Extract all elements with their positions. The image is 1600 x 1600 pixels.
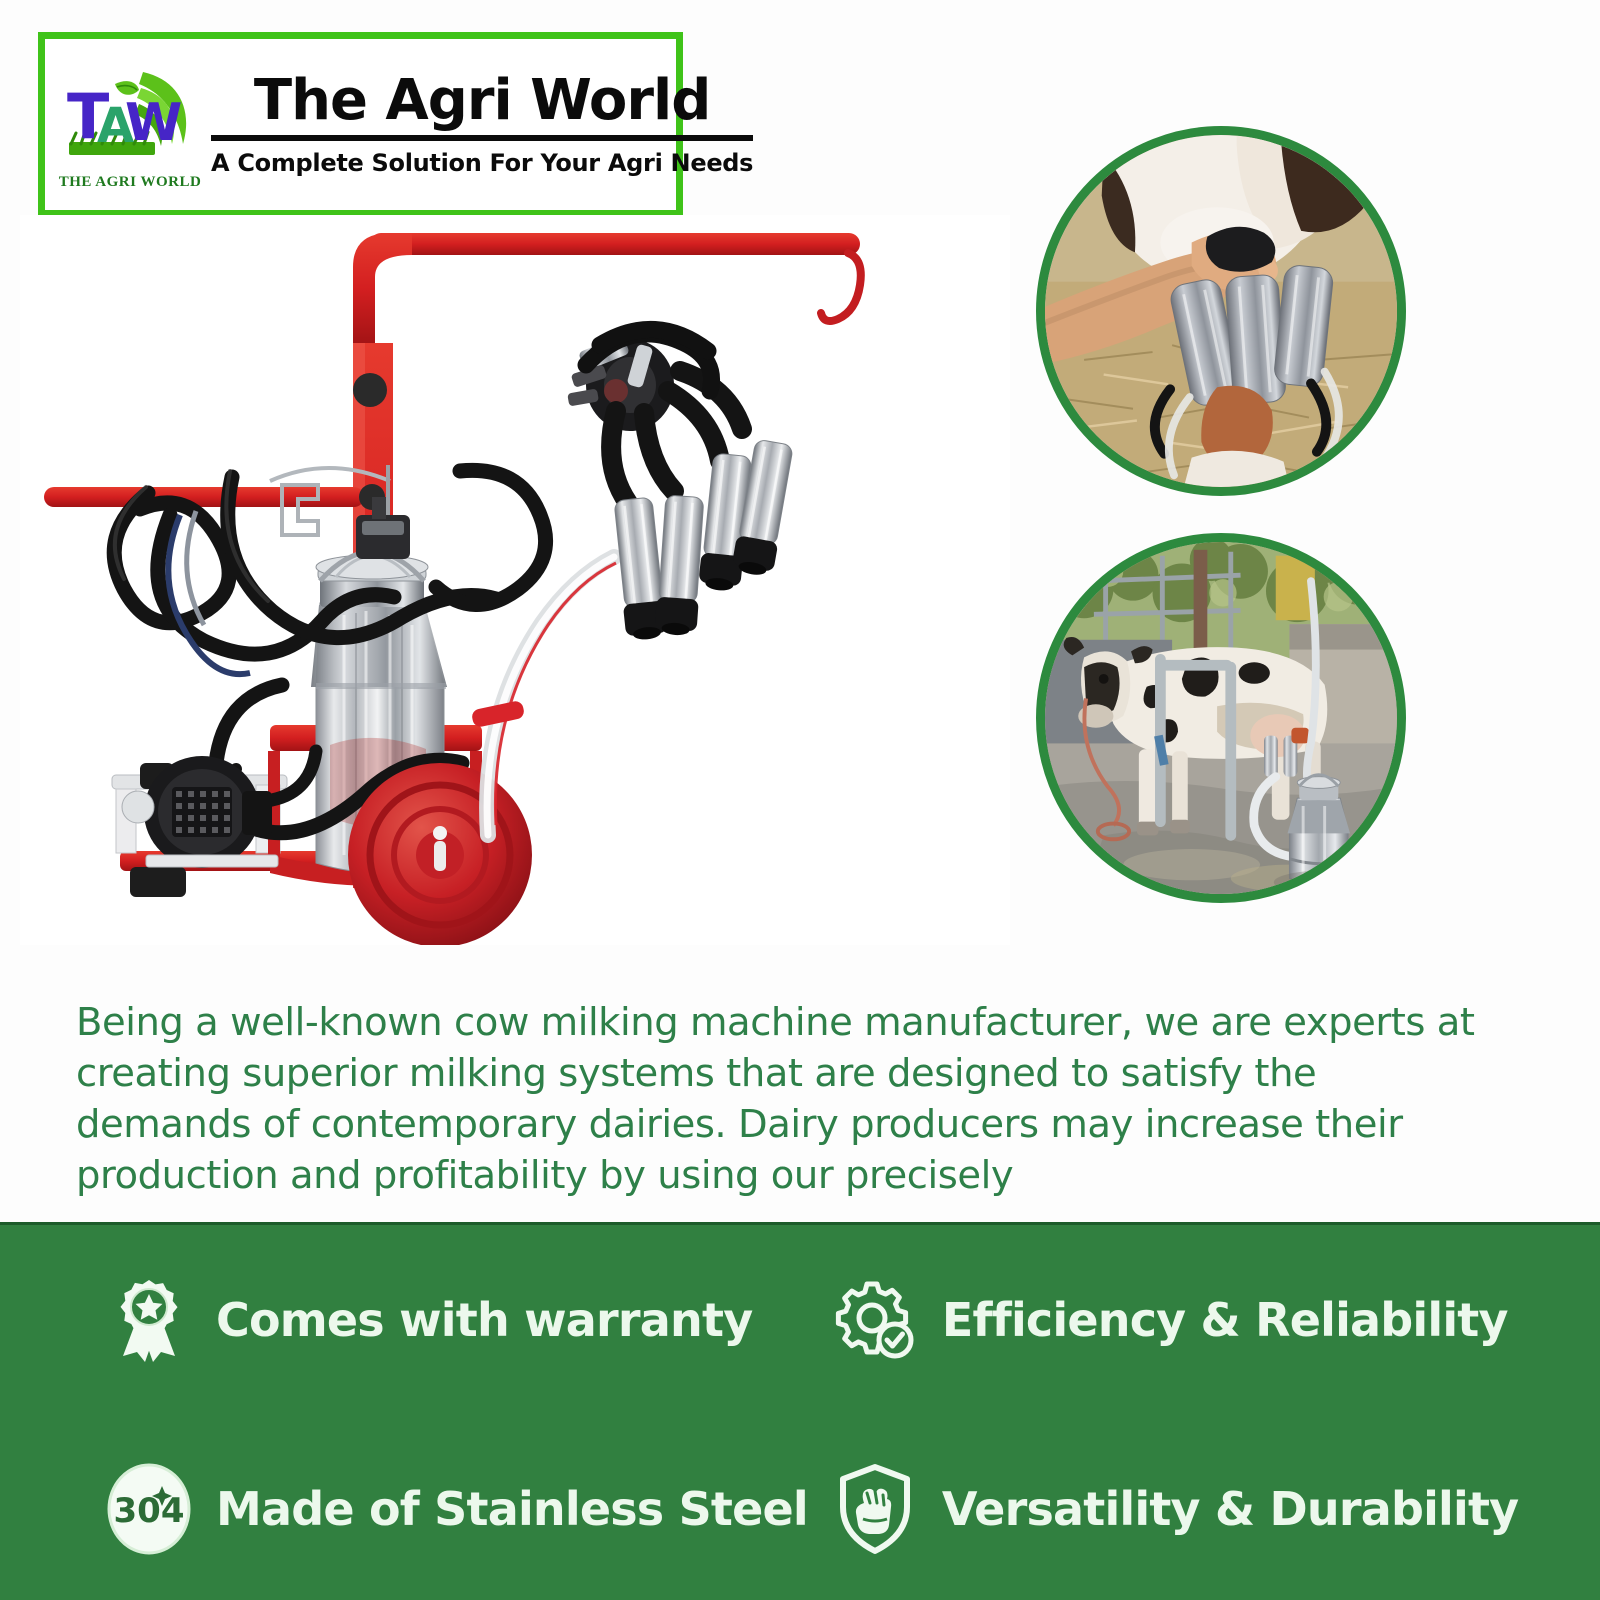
shield-fist-icon	[832, 1461, 918, 1557]
promo-page: T A W THE AGRI WORLD The Agri World A Co…	[0, 0, 1600, 1600]
feature-highlight-bar: Comes with warranty Efficiency & Reliabi…	[0, 1222, 1600, 1600]
svg-text:304: 304	[114, 1491, 185, 1531]
feature-item-durability: Versatility & Durability	[808, 1461, 1600, 1557]
feature-label-efficiency: Efficiency & Reliability	[942, 1293, 1508, 1347]
taw-logo-mark: T A W THE AGRI WORLD	[55, 50, 205, 200]
brand-wordmark: The Agri World A Complete Solution For Y…	[205, 72, 767, 177]
description-paragraph: Being a well-known cow milking machine m…	[76, 997, 1476, 1202]
photo-teat-cups-on-udder	[1036, 126, 1406, 496]
svg-text:W: W	[125, 93, 182, 153]
feature-label-warranty: Comes with warranty	[216, 1293, 752, 1347]
product-image-milking-machine	[20, 215, 1010, 945]
steel-304-badge-icon: 304	[106, 1461, 192, 1557]
gear-check-icon	[832, 1272, 918, 1368]
feature-label-durability: Versatility & Durability	[942, 1482, 1518, 1536]
award-ribbon-icon	[106, 1272, 192, 1368]
feature-label-stainless-steel: Made of Stainless Steel	[216, 1482, 808, 1536]
logo-caption: THE AGRI WORLD	[59, 174, 202, 191]
brand-logo-header: T A W THE AGRI WORLD The Agri World A Co…	[38, 32, 683, 217]
brand-tagline: A Complete Solution For Your Agri Needs	[211, 149, 753, 177]
feature-item-efficiency: Efficiency & Reliability	[808, 1272, 1600, 1368]
brand-title: The Agri World	[211, 72, 753, 129]
photo-cow-in-milking-stall	[1036, 533, 1406, 903]
feature-item-warranty: Comes with warranty	[0, 1272, 808, 1368]
brand-divider	[211, 135, 753, 141]
feature-item-stainless-steel: 304 Made of Stainless Steel	[0, 1461, 808, 1557]
